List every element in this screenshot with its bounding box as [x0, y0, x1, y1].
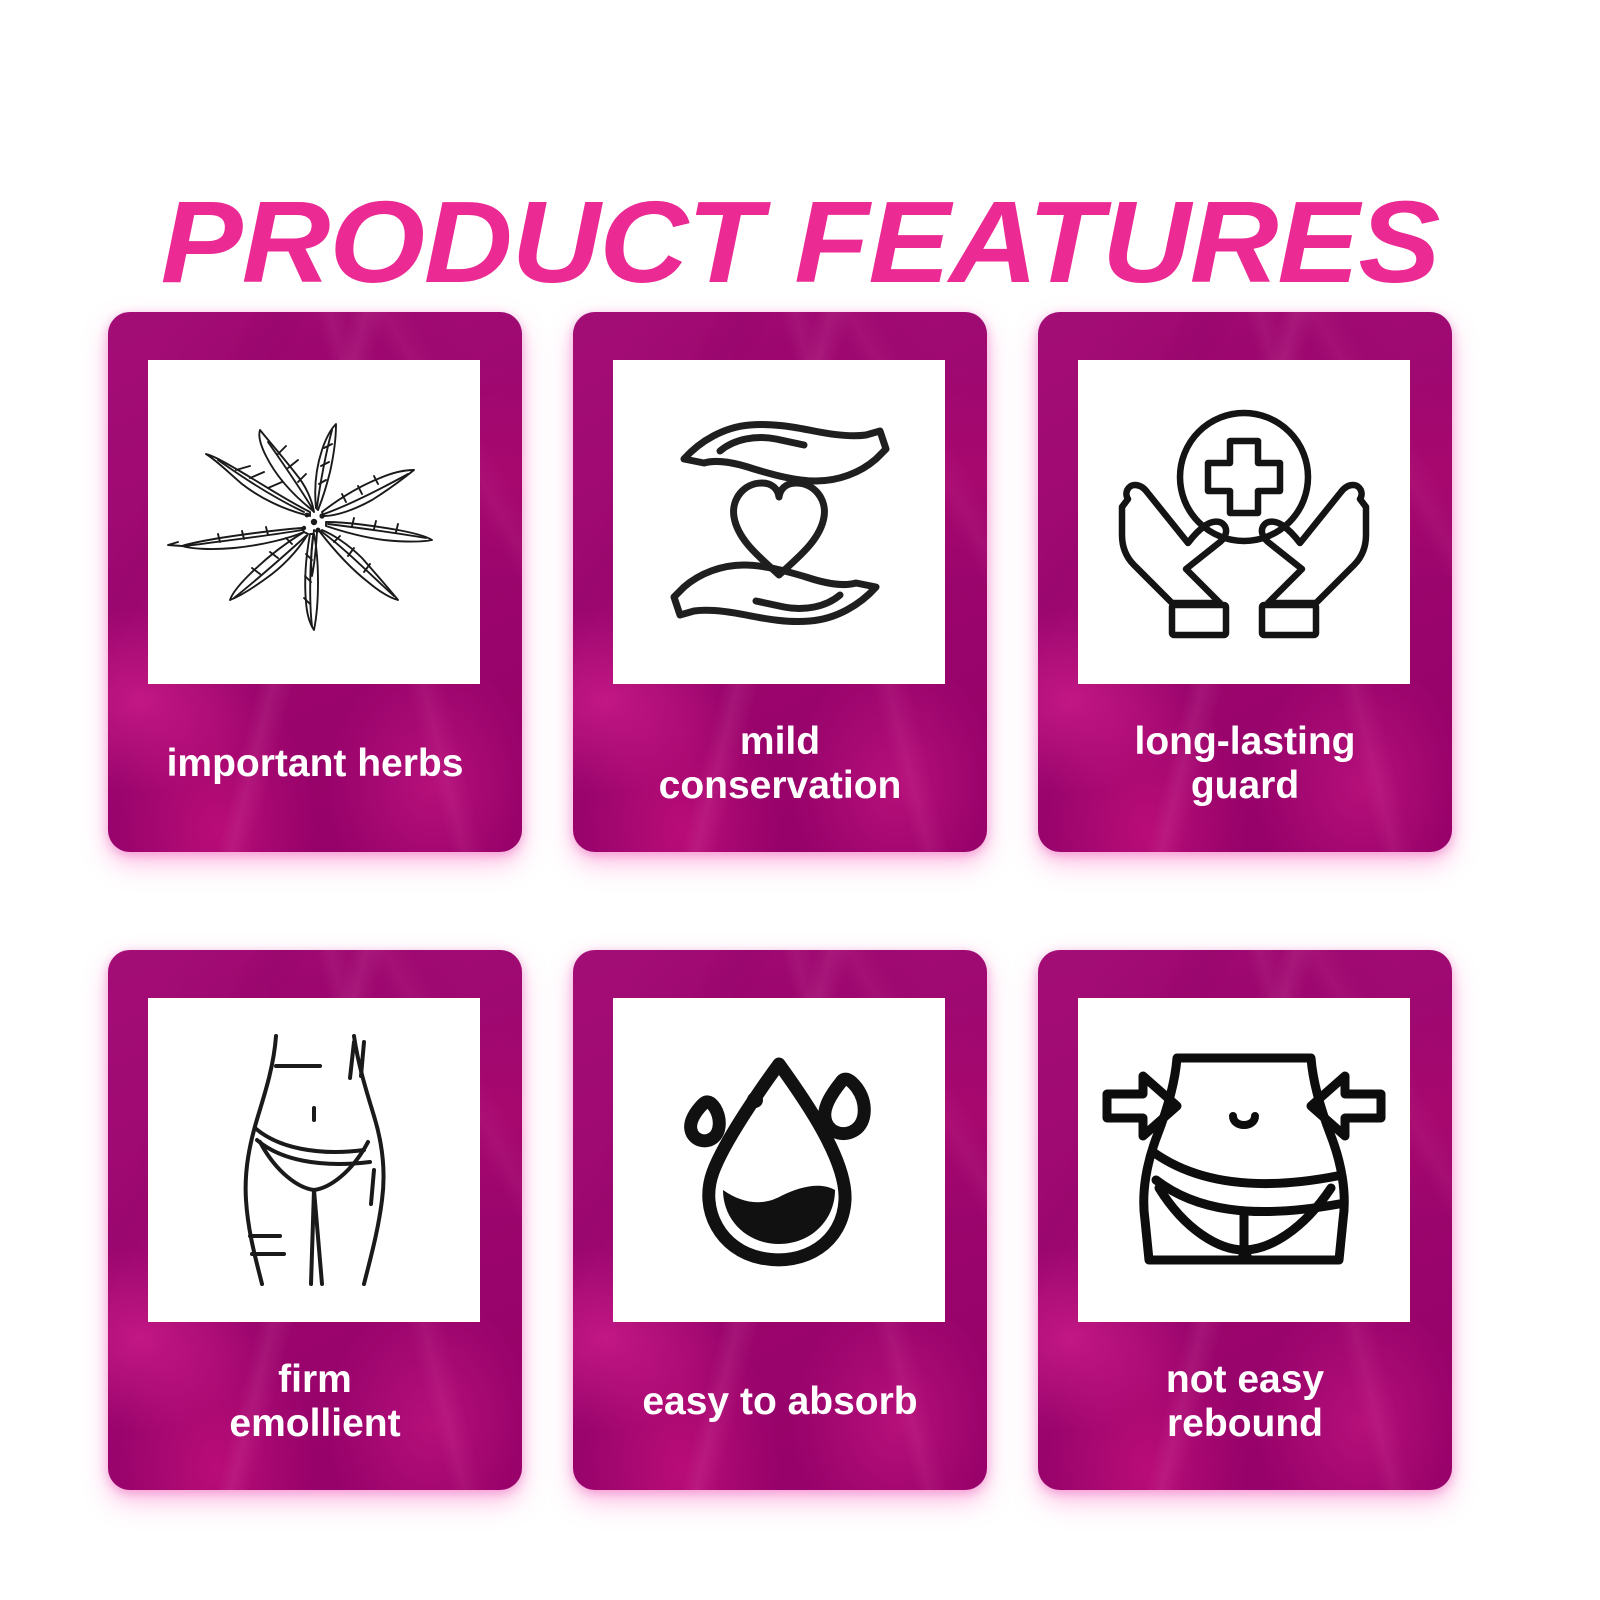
feature-card-easy-to-absorb[interactable]: easy to absorb [573, 950, 987, 1490]
icon-panel [1078, 998, 1410, 1322]
hands-medical-cross-icon [1116, 397, 1372, 647]
waist-slimming-arrows-icon [1099, 1040, 1389, 1280]
feature-card-grid: important herbs [108, 312, 1512, 1490]
feature-card-long-lasting-guard[interactable]: long-lasting guard [1038, 312, 1452, 852]
icon-panel [1078, 360, 1410, 684]
product-features-page: PRODUCT FEATURES [0, 0, 1600, 1600]
water-droplet-icon [655, 1048, 903, 1272]
feature-card-important-herbs[interactable]: important herbs [108, 312, 522, 852]
hands-heart-icon [654, 397, 904, 647]
feature-card-not-easy-rebound[interactable]: not easy rebound [1038, 950, 1452, 1490]
herb-leaves-icon [164, 412, 464, 632]
card-label: important herbs [126, 694, 504, 834]
page-title: PRODUCT FEATURES [0, 182, 1600, 304]
feature-card-firm-emollient[interactable]: firm emollient [108, 950, 522, 1490]
female-torso-icon [214, 1030, 414, 1290]
icon-panel [613, 360, 945, 684]
card-label: firm emollient [126, 1332, 504, 1472]
card-label: not easy rebound [1056, 1332, 1434, 1472]
icon-panel [148, 360, 480, 684]
card-label: easy to absorb [591, 1332, 969, 1472]
card-label: mild conservation [591, 694, 969, 834]
icon-panel [613, 998, 945, 1322]
icon-panel [148, 998, 480, 1322]
feature-card-mild-conservation[interactable]: mild conservation [573, 312, 987, 852]
card-label: long-lasting guard [1056, 694, 1434, 834]
